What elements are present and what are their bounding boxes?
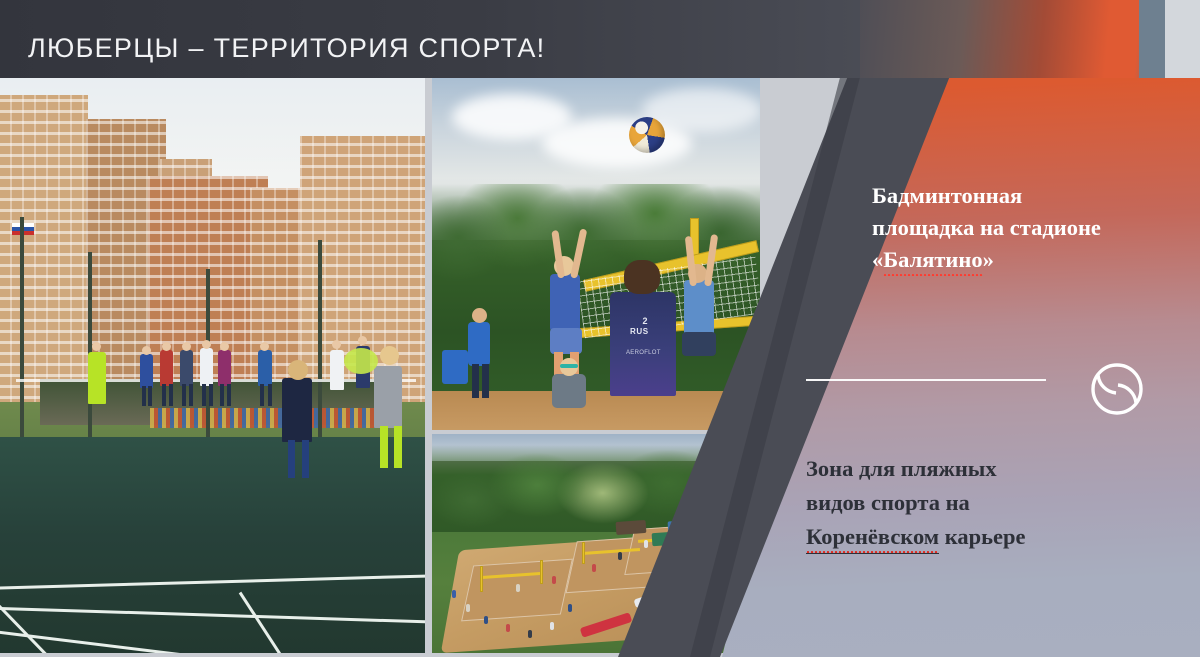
player-head (202, 340, 211, 349)
player-figure (88, 352, 106, 404)
page-title: ЛЮБЕРЦЫ – ТЕРРИТОРИЯ СПОРТА! (28, 33, 545, 64)
court-line (0, 573, 425, 589)
person-dot (644, 540, 648, 548)
stadium-seats (150, 408, 380, 428)
player-leg (142, 386, 146, 406)
player-figure-foreground (374, 366, 402, 428)
player-shorts (682, 332, 716, 356)
player-figure (140, 354, 153, 388)
player-side (468, 322, 490, 366)
person-dot (452, 590, 456, 598)
pavilion-roof (615, 520, 645, 535)
person-dot (528, 630, 532, 638)
player-head (260, 342, 269, 351)
player-figure (258, 350, 272, 386)
court-line (0, 606, 425, 625)
player-head (220, 342, 229, 351)
corner-accent-light (1165, 0, 1200, 78)
person-dot (552, 576, 556, 584)
player-blocking (684, 280, 714, 336)
caption-badminton: Бадминтонная площадка на стадионе «Балят… (872, 180, 1162, 276)
net-post (540, 560, 543, 584)
tennis-ball-icon (1088, 360, 1146, 423)
misspelled-word: Балятино (883, 247, 982, 276)
player-head (332, 340, 341, 349)
photo-collage: 2 RUS AEROFLOT (0, 78, 760, 657)
net-post (480, 566, 483, 592)
person-dot (506, 624, 510, 632)
player-leg (169, 384, 173, 406)
photo-beach-volleyball-action: 2 RUS AEROFLOT (432, 78, 760, 430)
person-dot (592, 564, 596, 572)
spectator-crouching (552, 374, 586, 408)
caption-line: Бадминтонная (872, 180, 1162, 212)
player-head (182, 342, 191, 351)
player-leg (182, 384, 186, 406)
player-leg (472, 364, 479, 398)
player-head (142, 346, 151, 355)
player-figure-foreground (282, 378, 312, 442)
player-leg (268, 384, 272, 406)
player-figure (218, 350, 231, 386)
caption-beach-zone: Зона для пляжных видов спорта на Коренёв… (806, 452, 1126, 554)
player-figure (200, 348, 213, 386)
misspelled-word: Коренёвском (806, 524, 939, 554)
person-dot (516, 584, 520, 592)
quote-close: » (983, 247, 994, 272)
caption-line: «Балятино» (872, 244, 1162, 276)
player-leg (148, 386, 152, 406)
player-leg (189, 384, 193, 406)
photo-badminton-court (0, 78, 425, 657)
volleyball (629, 117, 665, 153)
player-head (624, 260, 660, 294)
person-dot (568, 604, 572, 612)
jersey-sponsor: AEROFLOT (626, 350, 661, 356)
section-divider (806, 379, 1046, 381)
player-figure (180, 350, 193, 386)
player-jumping (550, 274, 580, 332)
player-head (358, 336, 367, 345)
net-post (582, 542, 585, 564)
player-leg (202, 384, 206, 406)
jersey-country: RUS (630, 327, 649, 336)
player-figure (160, 350, 173, 386)
person-dot (618, 552, 622, 560)
caption-word: карьере (939, 524, 1025, 549)
badminton-racket (344, 348, 378, 374)
player-figure (330, 350, 344, 390)
player-foreground (610, 292, 676, 396)
player-head (288, 360, 308, 380)
player-leg (380, 426, 388, 468)
player-leg (260, 384, 264, 406)
player-leg (302, 440, 309, 478)
jersey-number: 2 (634, 316, 656, 326)
player-head (92, 342, 101, 351)
player-head (162, 342, 171, 351)
person-dot (550, 622, 554, 630)
player-leg (227, 384, 231, 406)
caption-line: видов спорта на (806, 486, 1126, 520)
caption-line: Зона для пляжных (806, 452, 1126, 486)
cooler-box (442, 350, 468, 384)
player-leg (209, 384, 213, 406)
player-leg (162, 384, 166, 406)
caption-line: Коренёвском карьере (806, 520, 1126, 554)
player-leg (482, 364, 489, 398)
corner-accent-slate (1139, 0, 1165, 78)
player-leg (288, 440, 295, 478)
player-leg (220, 384, 224, 406)
person-dot (466, 604, 470, 612)
quote-open: « (872, 247, 883, 272)
player-shorts (550, 328, 582, 354)
presentation-slide: 2 RUS AEROFLOT (0, 0, 1200, 657)
person-dot (484, 616, 488, 624)
court-line (239, 592, 383, 657)
sunglasses-icon (560, 364, 578, 368)
court-surface (0, 437, 425, 657)
player-head (472, 308, 487, 323)
player-leg (394, 426, 402, 468)
court-line (0, 596, 199, 657)
player-head (380, 346, 399, 365)
caption-line: площадка на стадионе (872, 212, 1162, 244)
flag-pole (20, 217, 24, 472)
